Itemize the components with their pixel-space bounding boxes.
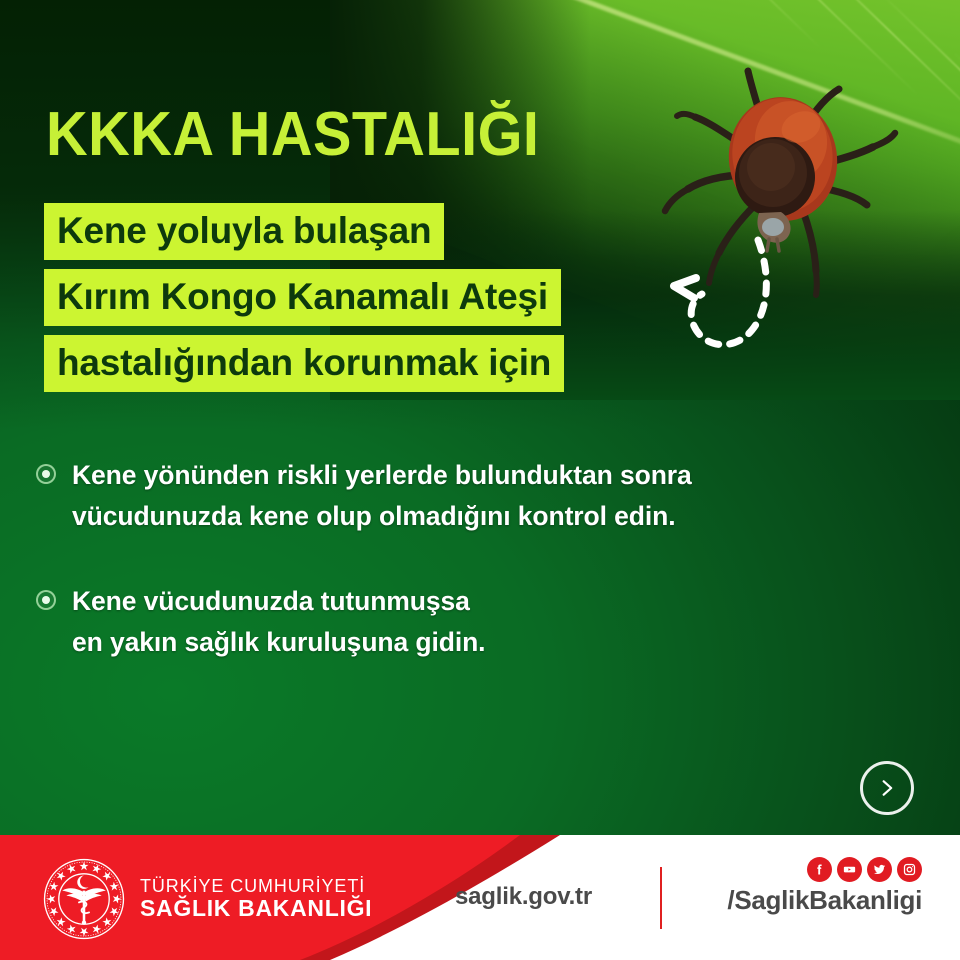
bullet-target-icon [36,464,56,484]
advice-list: Kene yönünden riskli yerlerde bulundukta… [36,455,836,707]
next-slide-button[interactable] [860,761,914,815]
list-item: Kene vücudunuzda tutunmuşsa en yakın sağ… [36,581,836,663]
list-item-text: Kene yönünden riskli yerlerde bulundukta… [72,455,692,537]
list-item-line: en yakın sağlık kuruluşuna gidin. [72,622,485,663]
subheading-block: Kene yoluyla bulaşan Kırım Kongo Kanamal… [44,203,564,401]
instagram-icon[interactable] [897,857,922,882]
list-item-text: Kene vücudunuzda tutunmuşsa en yakın sağ… [72,581,485,663]
facebook-icon[interactable] [807,857,832,882]
website-link[interactable]: saglik.gov.tr [455,883,592,911]
twitter-icon[interactable] [867,857,892,882]
ministry-brand: TÜRKİYE CUMHURİYETİ SAĞLIK BAKANLIĞI [42,857,372,941]
social-block: /SaglikBakanligi [727,857,922,916]
subheading-line-2: Kırım Kongo Kanamalı Ateşi [44,269,561,326]
brand-line-2: SAĞLIK BAKANLIĞI [140,896,372,921]
ministry-brand-text: TÜRKİYE CUMHURİYETİ SAĞLIK BAKANLIĞI [140,877,372,921]
page-title: KKKA HASTALIĞI [46,104,539,166]
social-icon-row [727,857,922,882]
bullet-target-icon [36,590,56,610]
turkish-ministry-of-health-emblem [42,857,126,941]
list-item-line: vücudunuzda kene olup olmadığını kontrol… [72,496,692,537]
list-item: Kene yönünden riskli yerlerde bulundukta… [36,455,836,537]
youtube-icon[interactable] [837,857,862,882]
subheading-line-1: Kene yoluyla bulaşan [44,203,444,260]
brand-line-1: TÜRKİYE CUMHURİYETİ [140,877,372,896]
dashed-curved-arrow-icon [660,238,810,363]
list-item-line: Kene vücudunuzda tutunmuşsa [72,581,485,622]
footer-divider [660,867,662,929]
footer-bar: TÜRKİYE CUMHURİYETİ SAĞLIK BAKANLIĞI sag… [0,835,960,960]
list-item-line: Kene yönünden riskli yerlerde bulundukta… [72,455,692,496]
social-handle[interactable]: /SaglikBakanligi [727,885,922,916]
chevron-right-icon [877,778,897,798]
poster-root: KKKA HASTALIĞI Kene yoluyla bulaşan Kırı… [0,0,960,960]
subheading-line-3: hastalığından korunmak için [44,335,564,392]
